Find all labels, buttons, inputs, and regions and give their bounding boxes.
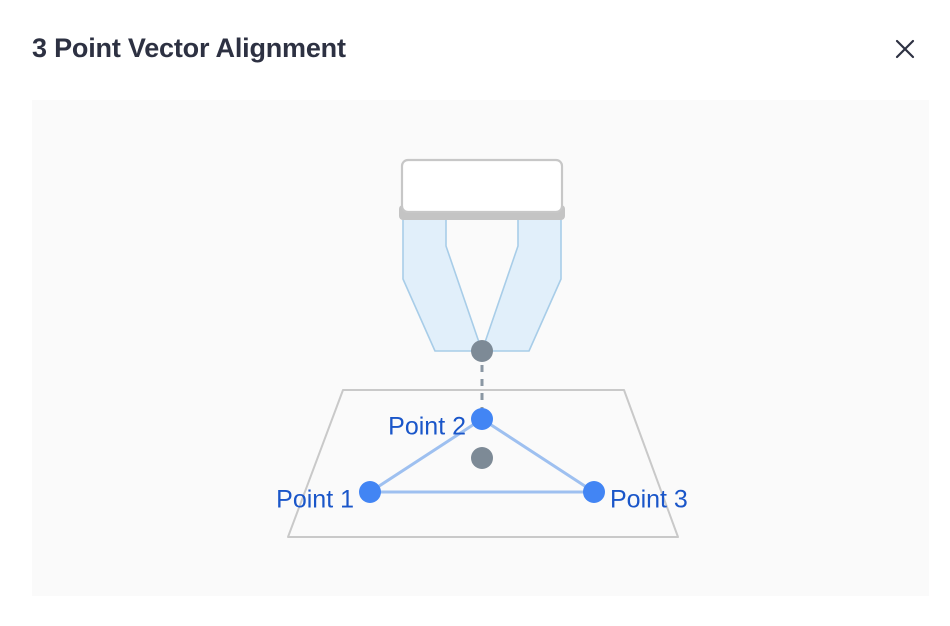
illustration-panel: Point 1 Point 2 Point 3: [32, 100, 929, 596]
point-1-label: Point 1: [276, 486, 354, 514]
point-1-marker[interactable]: [359, 481, 381, 503]
point-2-marker[interactable]: [471, 408, 493, 430]
alignment-point-1[interactable]: Point 1: [276, 481, 381, 514]
point-3-marker[interactable]: [583, 481, 605, 503]
alignment-scene: Point 1 Point 2 Point 3: [32, 100, 929, 596]
gripper-finger-right: [482, 218, 561, 351]
close-button[interactable]: [886, 30, 924, 68]
triangle-edge-p2-p3: [482, 419, 594, 492]
gripper-fingers: [403, 218, 561, 351]
gripper-body: [402, 160, 562, 212]
page-title: 3 Point Vector Alignment: [32, 29, 346, 67]
dialog-header: 3 Point Vector Alignment: [0, 0, 950, 100]
point-2-label: Point 2: [388, 413, 466, 441]
close-icon: [894, 38, 916, 60]
gripper-finger-left: [403, 218, 482, 351]
three-point-vector-alignment-dialog: 3 Point Vector Alignment: [0, 0, 950, 626]
gripper-tip-marker: [471, 340, 493, 362]
alignment-point-3[interactable]: Point 3: [583, 481, 688, 514]
plane-center-marker: [471, 447, 493, 469]
point-3-label: Point 3: [610, 486, 688, 514]
alignment-point-2[interactable]: Point 2: [388, 408, 493, 441]
